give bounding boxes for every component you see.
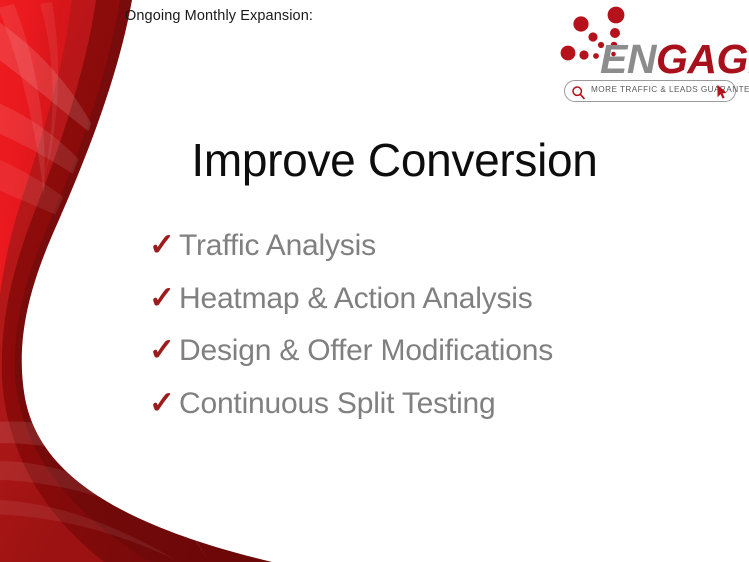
search-icon	[571, 85, 586, 100]
list-item-label: Traffic Analysis	[179, 226, 669, 266]
list-item-label: Continuous Split Testing	[179, 384, 669, 424]
list-item: ✓ Traffic Analysis	[149, 226, 669, 279]
list-item-label: Design & Offer Modifications	[179, 331, 669, 371]
check-icon: ✓	[149, 331, 179, 369]
logo-word-en: EN	[600, 36, 656, 82]
cursor-arrow-icon	[716, 84, 728, 100]
engage-logo: ENGAGE MORE TRAFFIC & LEADS GUARANTEED	[560, 6, 742, 106]
list-item-label: Heatmap & Action Analysis	[179, 279, 669, 319]
list-item: ✓ Continuous Split Testing	[149, 384, 669, 437]
logo-wordmark: ENGAGE	[600, 39, 749, 80]
logo-word-gage: GAGE	[656, 36, 749, 82]
list-item: ✓ Design & Offer Modifications	[149, 331, 669, 384]
bullet-list: ✓ Traffic Analysis ✓ Heatmap & Action An…	[149, 226, 669, 436]
page-title: Improve Conversion	[0, 133, 749, 187]
header-title: Ongoing Monthly Expansion:	[125, 8, 313, 24]
list-item: ✓ Heatmap & Action Analysis	[149, 279, 669, 332]
slide-canvas: Ongoing Monthly Expansion: ENGAGE	[0, 0, 749, 562]
check-icon: ✓	[149, 226, 179, 264]
check-icon: ✓	[149, 279, 179, 317]
logo-tagline-badge: MORE TRAFFIC & LEADS GUARANTEED	[564, 80, 736, 102]
check-icon: ✓	[149, 384, 179, 422]
